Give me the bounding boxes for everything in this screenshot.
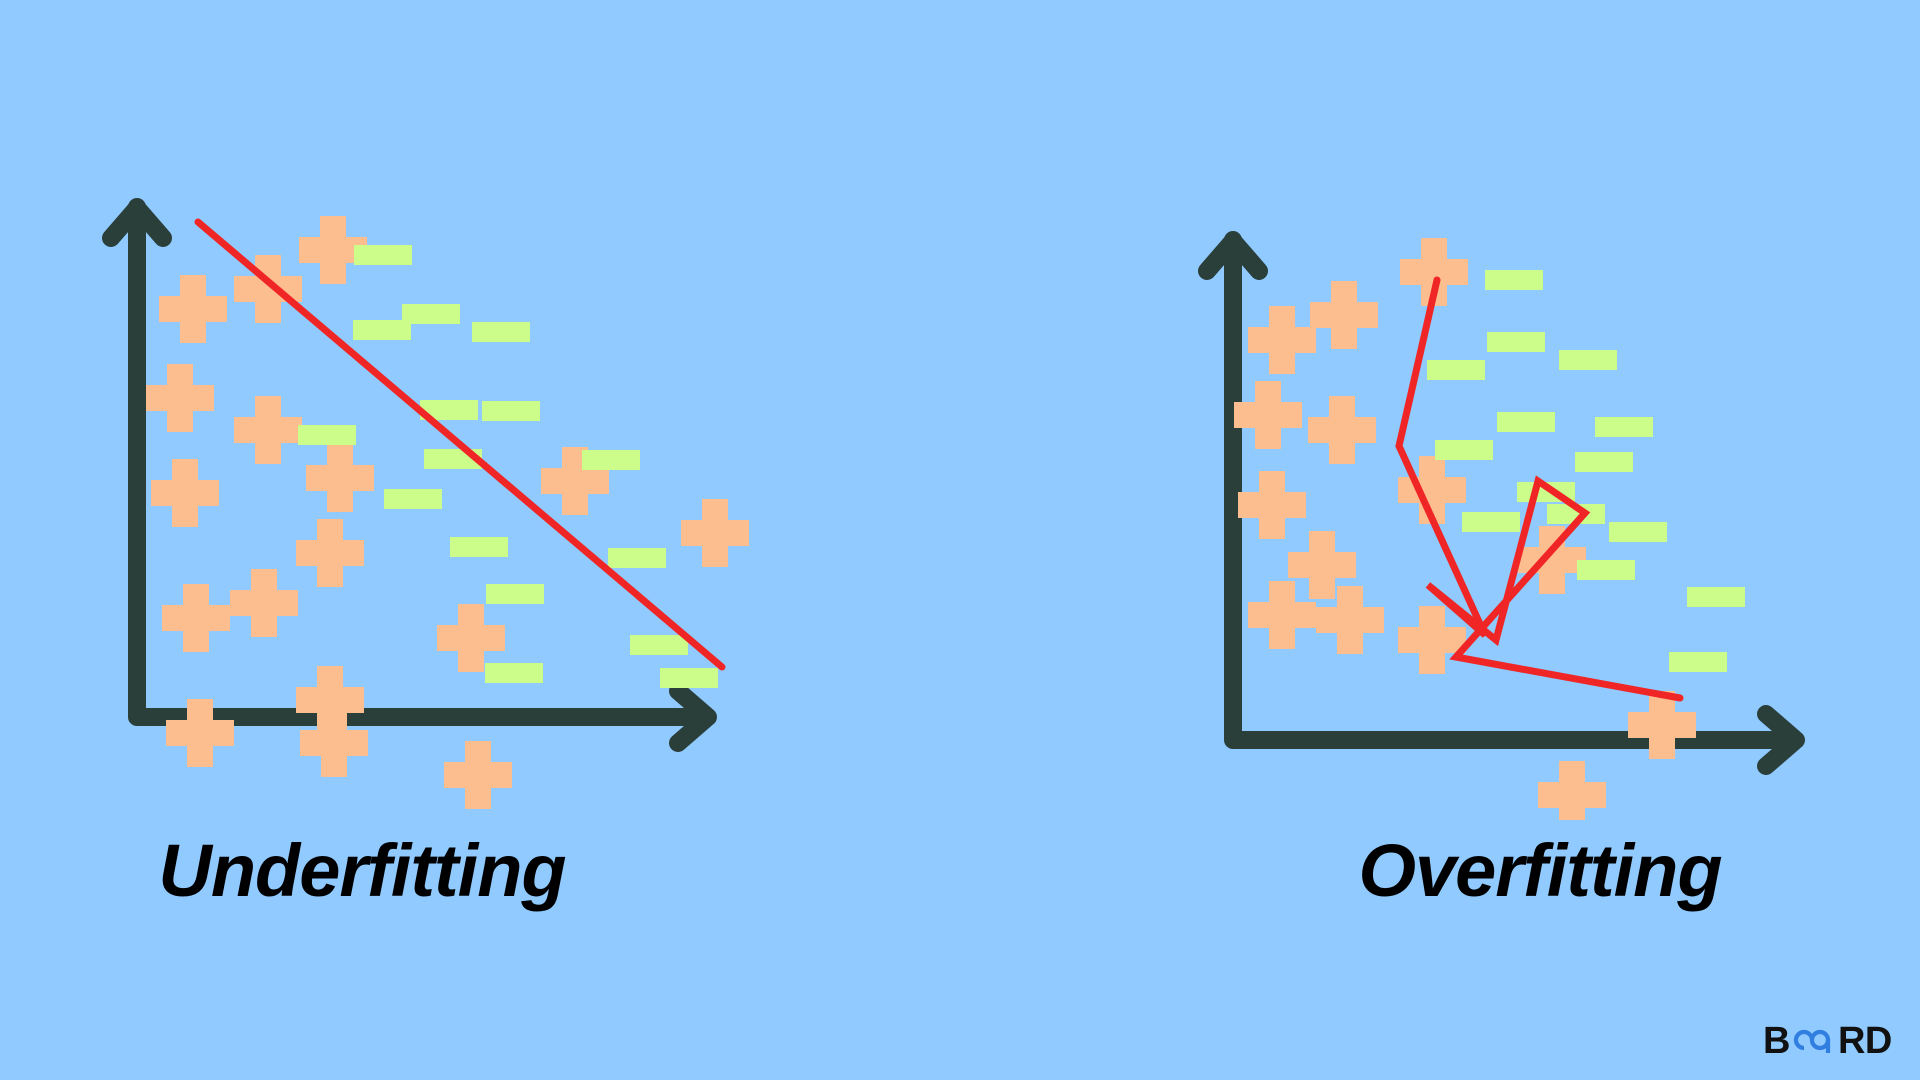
- plus-marker: [306, 444, 374, 512]
- dash-marker: [1669, 652, 1727, 672]
- plus-marker: [1234, 381, 1302, 449]
- plus-marker: [1308, 396, 1376, 464]
- dash-marker: [1687, 587, 1745, 607]
- dash-marker: [353, 320, 411, 340]
- underfitting-plot: [0, 0, 960, 820]
- dash-marker: [482, 401, 540, 421]
- plus-marker: [1310, 281, 1378, 349]
- dash-marker: [1577, 560, 1635, 580]
- plus-marker: [437, 604, 505, 672]
- dash-marker: [630, 635, 688, 655]
- plus-marker: [234, 396, 302, 464]
- plus-marker: [1518, 526, 1586, 594]
- diagram-canvas: Underfitting: [0, 0, 1920, 1080]
- dash-marker: [1609, 522, 1667, 542]
- plus-marker: [681, 499, 749, 567]
- overfitting-plot: [960, 0, 1920, 820]
- infinity-icon: [1790, 1024, 1838, 1054]
- plus-marker: [162, 584, 230, 652]
- plus-marker: [1248, 581, 1316, 649]
- dash-marker: [485, 663, 543, 683]
- dash-marker: [1427, 360, 1485, 380]
- plus-marker: [1538, 761, 1606, 820]
- dash-marker: [298, 425, 356, 445]
- overfitting-caption: Overfitting: [1060, 828, 1920, 913]
- dash-marker: [1462, 512, 1520, 532]
- plus-marker: [146, 364, 214, 432]
- underfitting-panel: Underfitting: [0, 0, 960, 1080]
- dash-marker: [608, 548, 666, 568]
- dash-marker: [1485, 270, 1543, 290]
- dash-marker: [1497, 412, 1555, 432]
- dash-marker: [1435, 440, 1493, 460]
- dash-marker: [1559, 350, 1617, 370]
- plus-marker: [151, 459, 219, 527]
- logo-prefix: B: [1763, 1022, 1790, 1060]
- dash-marker: [1487, 332, 1545, 352]
- overfitting-panel: Overfitting: [960, 0, 1920, 1080]
- dash-marker: [582, 450, 640, 470]
- dash-marker: [660, 668, 718, 688]
- logo-suffix: RD: [1838, 1022, 1892, 1060]
- brand-logo: B RD: [1763, 1022, 1892, 1060]
- plus-marker: [230, 569, 298, 637]
- plus-marker: [1238, 471, 1306, 539]
- dash-marker: [472, 322, 530, 342]
- dash-marker: [1575, 452, 1633, 472]
- dash-marker: [450, 537, 508, 557]
- underfitting-caption: Underfitting: [0, 828, 842, 913]
- plus-marker: [296, 519, 364, 587]
- dash-marker: [1595, 417, 1653, 437]
- dash-marker: [384, 489, 442, 509]
- plus-marker: [1248, 306, 1316, 374]
- plus-marker: [444, 741, 512, 809]
- dash-marker: [486, 584, 544, 604]
- plus-marker: [1398, 606, 1466, 674]
- dash-marker: [354, 245, 412, 265]
- plus-marker: [159, 275, 227, 343]
